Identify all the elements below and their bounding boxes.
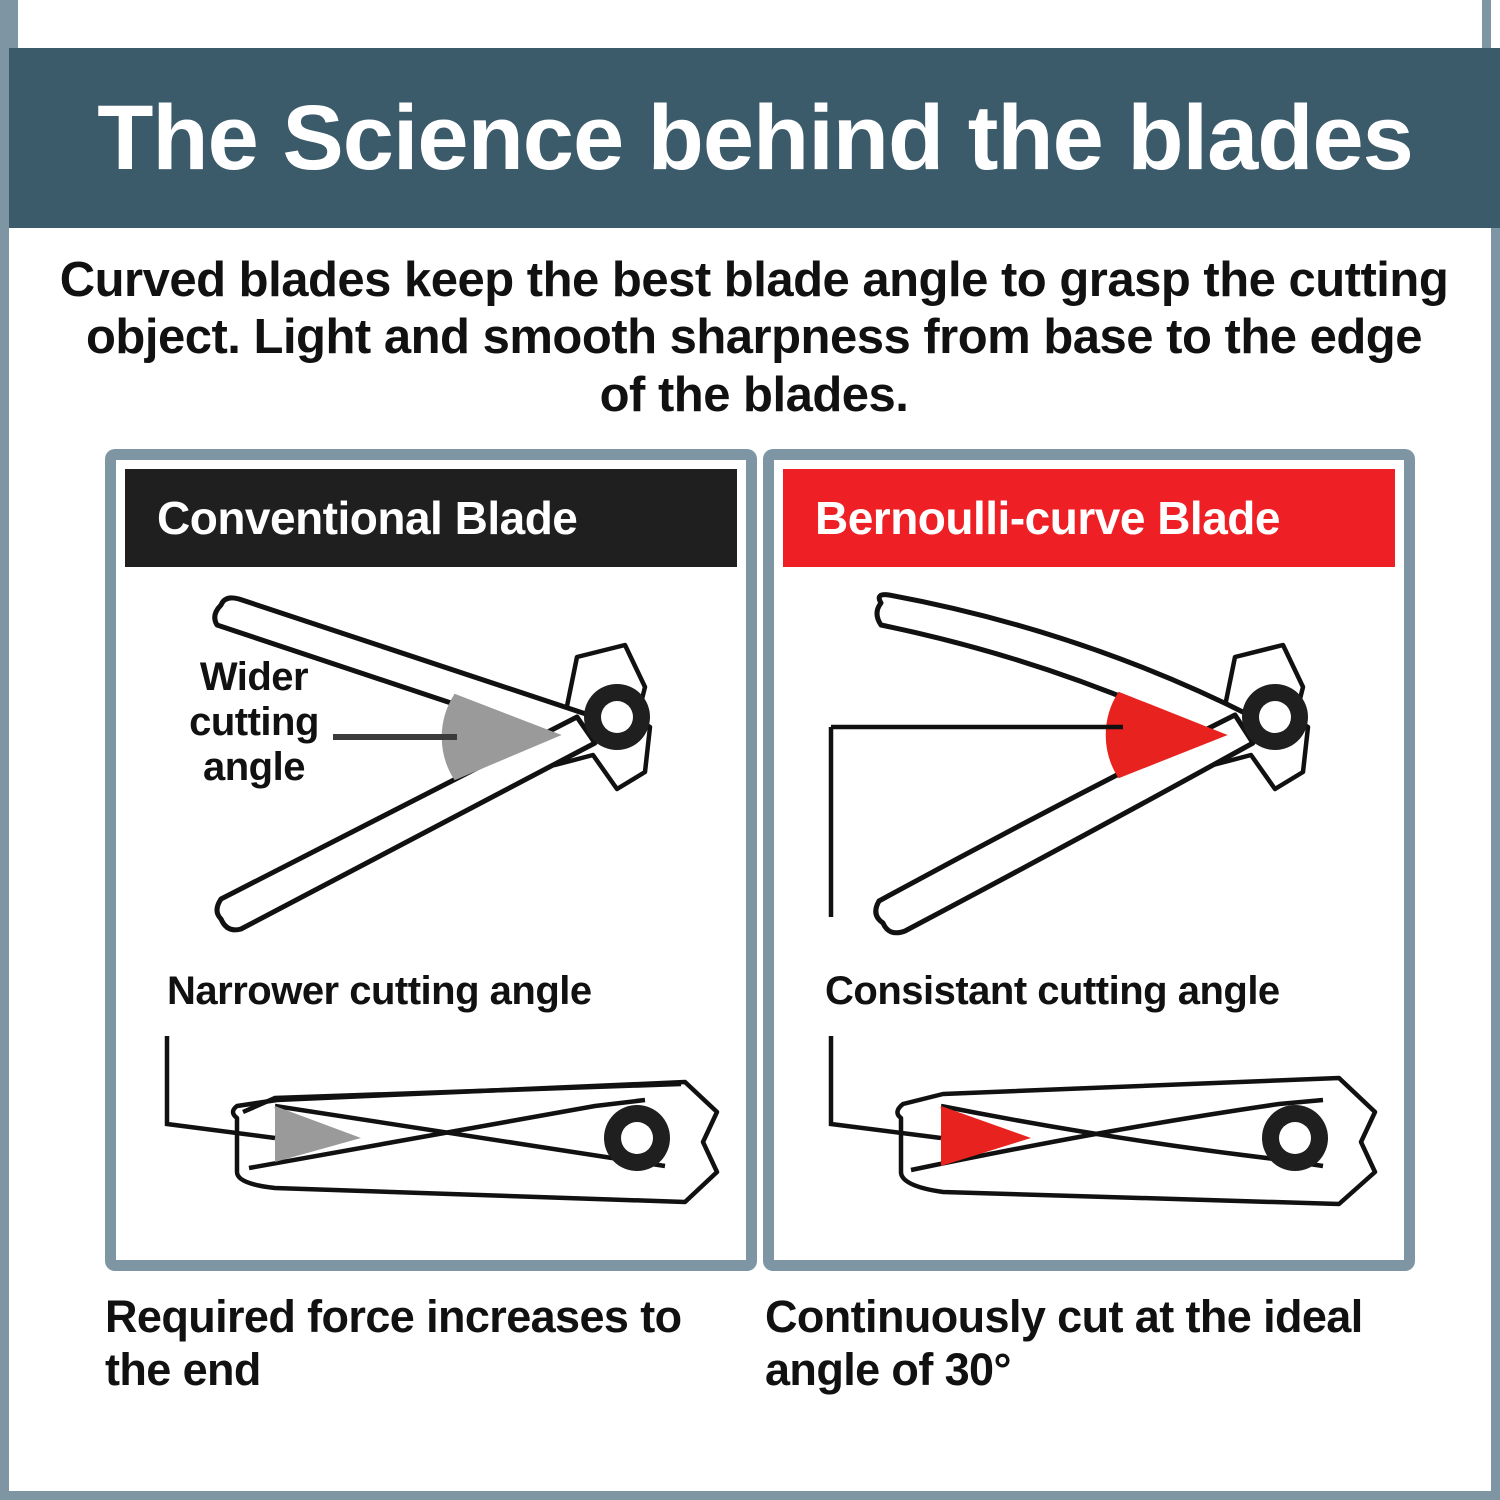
page-title: The Science behind the blades [97,92,1413,184]
pivot-ring-inner-bc [1279,1122,1311,1154]
annotation-line-3: angle [159,745,349,790]
figure-conventional-open: Wider cutting angle [125,567,737,967]
panel-captions: Required force increases to the end Cont… [105,1290,1415,1440]
bernoulli-open-scissors-svg [783,567,1395,967]
intro-paragraph: Curved blades keep the best blade angle … [59,252,1449,424]
top-white-strip [9,0,1500,48]
pivot-ring-inner-closed [621,1122,653,1154]
figure-bernoulli-closed [783,1020,1395,1250]
figure-bernoulli-open [783,567,1395,967]
pivot-ring-inner [601,701,633,733]
panel-bernoulli: Bernoulli-curve Blade [763,449,1415,1271]
mid-label-conventional: Narrower cutting angle [125,969,737,1014]
conventional-closed-scissors-svg [125,1020,737,1250]
mid-label-bernoulli: Consistant cutting angle [783,969,1395,1014]
figure-conventional-closed [125,1020,737,1250]
comparison-panels: Conventional Blade [105,449,1415,1271]
panel-header-conventional: Conventional Blade [125,469,737,567]
caption-bernoulli: Continuously cut at the ideal angle of 3… [755,1290,1415,1440]
pivot-ring-inner-b [1259,701,1291,733]
caption-conventional: Required force increases to the end [105,1290,755,1440]
panel-title-bernoulli: Bernoulli-curve Blade [815,491,1280,545]
panel-title-conventional: Conventional Blade [157,491,577,545]
annotation-wider-cutting-angle: Wider cutting angle [159,655,349,789]
panel-header-bernoulli: Bernoulli-curve Blade [783,469,1395,567]
infographic-page: The Science behind the blades Curved bla… [0,0,1500,1500]
bernoulli-closed-scissors-svg [783,1020,1395,1250]
panel-conventional: Conventional Blade [105,449,757,1271]
header-bar: The Science behind the blades [9,48,1500,228]
top-border-right [1482,0,1491,48]
annotation-line-2: cutting [159,700,349,745]
top-border-left [9,0,18,48]
annotation-line-1: Wider [159,655,349,700]
